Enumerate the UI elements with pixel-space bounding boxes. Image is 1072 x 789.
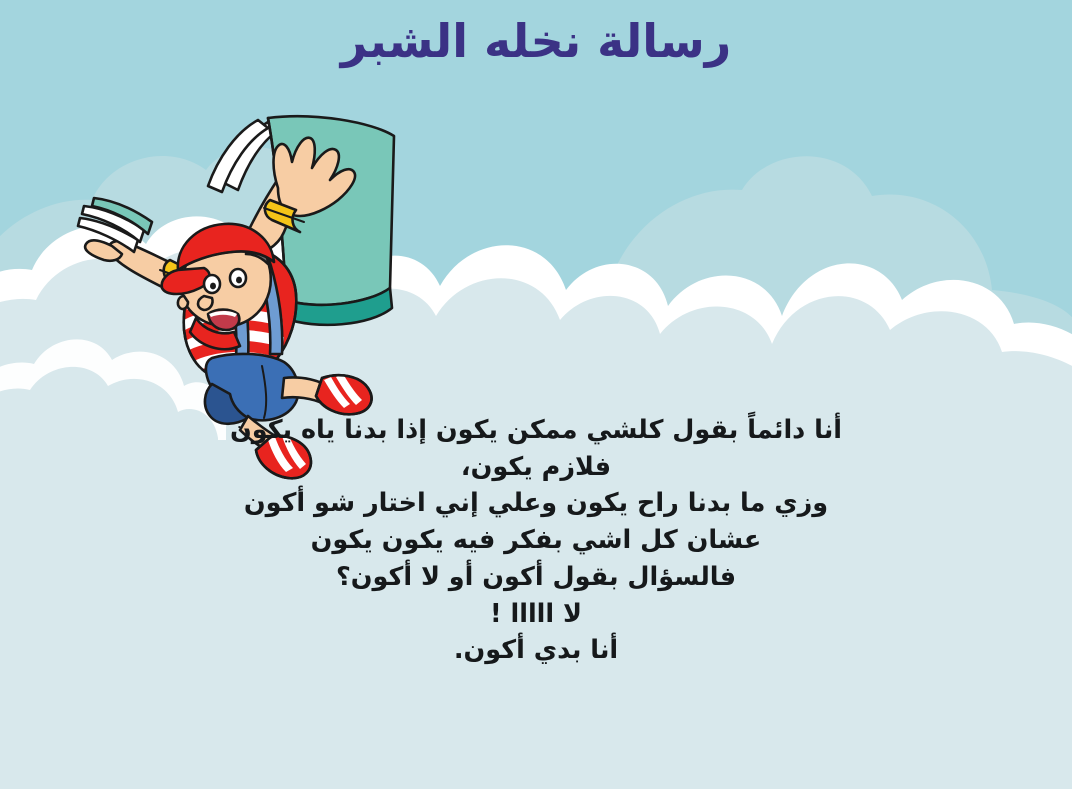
flying-boy-with-book-illustration	[72, 104, 392, 404]
body-text-block: أنا دائماً بقول كلشي ممكن يكون إذا بدنا …	[196, 412, 876, 669]
head	[162, 224, 274, 330]
body-line-5: فالسؤال بقول أكون أو لا أكون؟	[196, 559, 876, 596]
body-line-7: أنا بدي أكون.	[196, 632, 876, 669]
body-line-2: فلازم يكون،	[196, 449, 876, 486]
slide-canvas: رسالة نخله الشبر	[0, 0, 1072, 789]
body-line-6: لا ااااا !	[196, 596, 876, 633]
body-line-4: عشان كل اشي بفكر فيه يكون يكون	[196, 522, 876, 559]
body-line-3: وزي ما بدنا راح يكون وعلي إني اختار شو أ…	[196, 485, 876, 522]
page-title: رسالة نخله الشبر	[0, 14, 1072, 68]
body-line-1: أنا دائماً بقول كلشي ممكن يكون إذا بدنا …	[196, 412, 876, 449]
